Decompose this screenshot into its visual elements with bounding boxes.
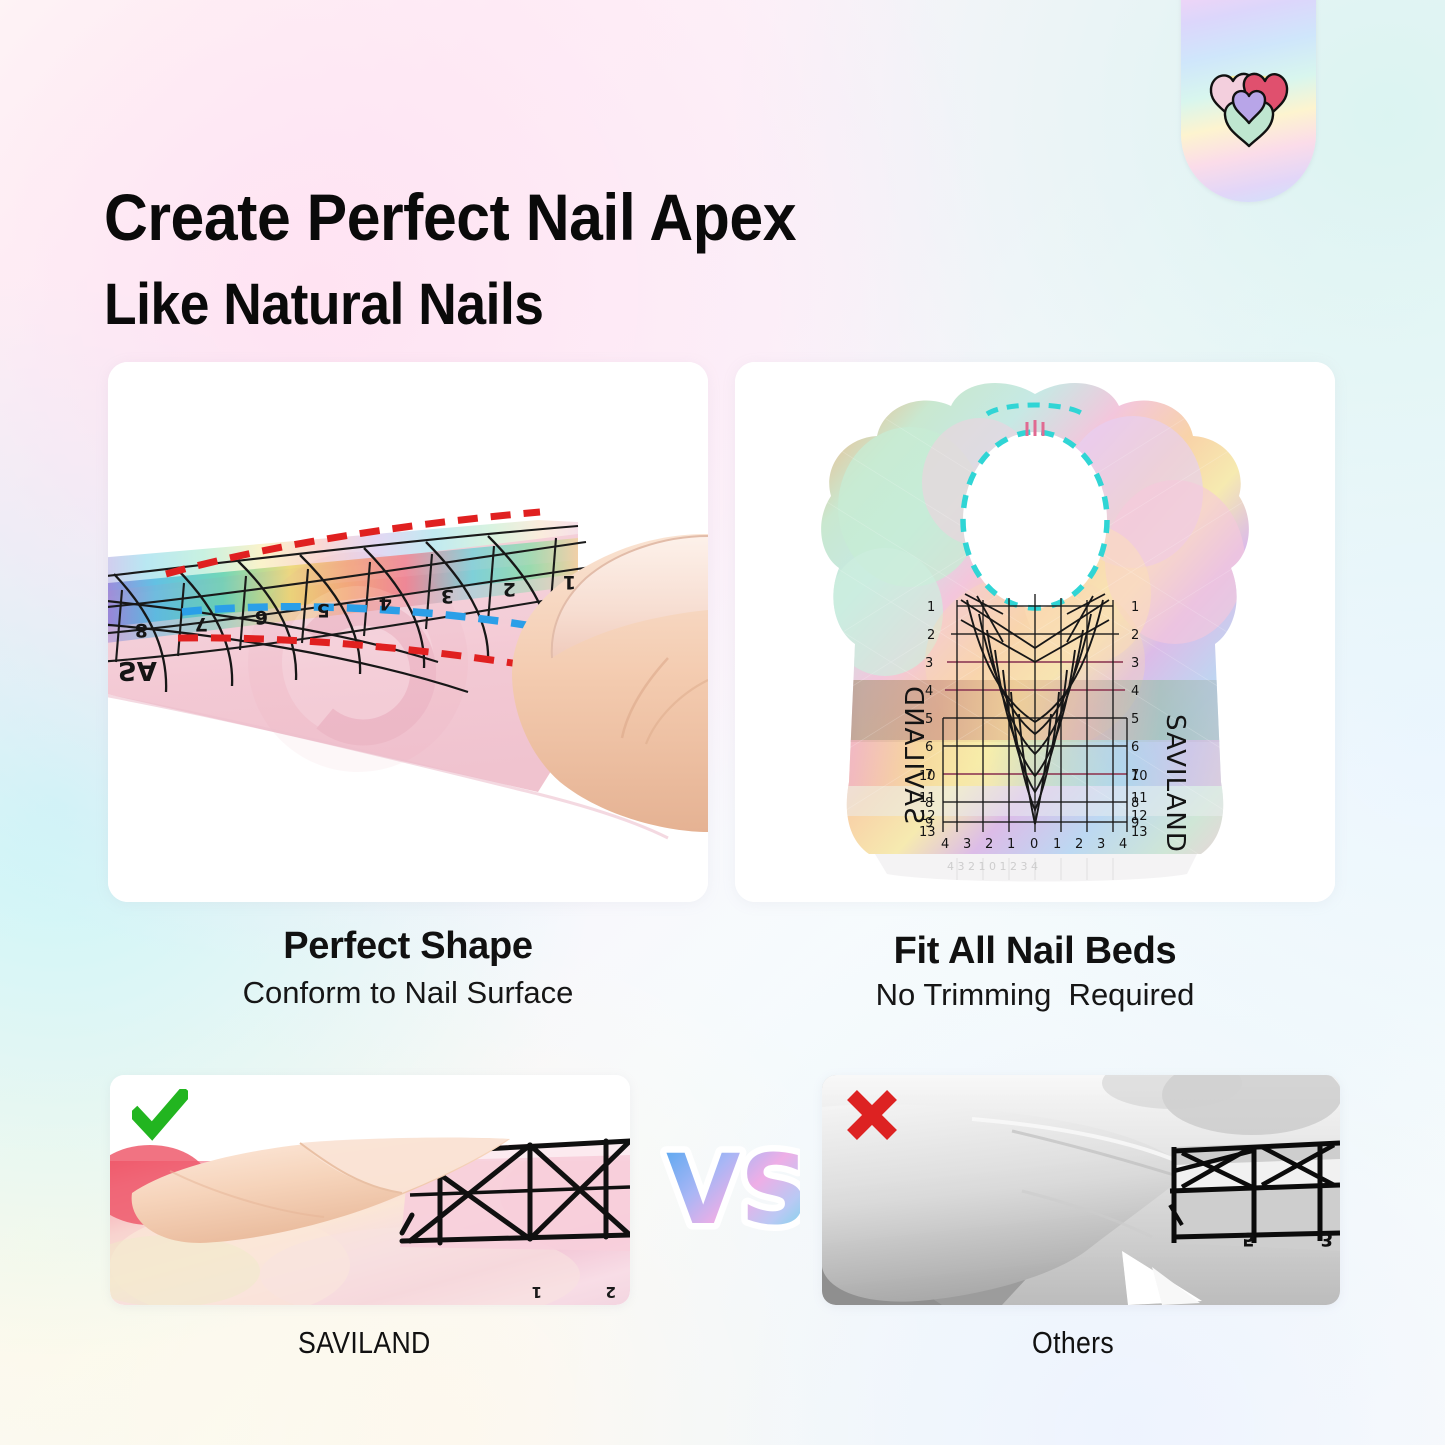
svg-text:3: 3 [1320,1228,1333,1250]
feature-title-fit-all-nail-beds: Fit All Nail Beds [735,930,1335,973]
feature-title-perfect-shape: Perfect Shape [108,925,708,968]
photo-saviland-fit: 1 2 [110,1075,630,1305]
svg-text:3: 3 [441,585,454,607]
svg-text:2: 2 [1075,837,1083,852]
svg-text:4: 4 [379,592,392,614]
svg-text:SAVILAND: SAVILAND [898,685,928,824]
svg-text:4: 4 [1119,837,1127,852]
svg-text:4: 4 [941,837,949,852]
comparison-label-others: Others [1032,1325,1114,1361]
comparison-label-saviland: SAVILAND [298,1325,431,1361]
feature-subtitle-fit-all-nail-beds: No Trimming Required [735,977,1335,1013]
svg-text:1: 1 [927,600,935,615]
svg-text:2: 2 [927,628,935,643]
svg-text:VS: VS [666,1135,800,1246]
cross-icon [844,1089,900,1141]
svg-text:1: 1 [1007,837,1015,852]
feature-card-fit-all-nail-beds: 12 34 56 78 9 12 34 56 78 9 [735,362,1335,902]
svg-text:4: 4 [1131,684,1139,699]
svg-text:5: 5 [1242,1228,1255,1250]
svg-text:1: 1 [532,1283,542,1301]
svg-text:3: 3 [963,837,971,852]
photo-side-view-nail-form: 8 7 6 5 4 3 2 1 SA [108,362,708,902]
svg-text:10: 10 [1131,769,1148,784]
svg-text:11: 11 [1131,791,1148,806]
svg-text:2: 2 [503,578,516,600]
svg-text:3: 3 [1131,656,1139,671]
svg-text:5: 5 [317,599,330,621]
svg-text:2: 2 [985,837,993,852]
svg-text:6: 6 [255,606,268,628]
svg-text:5: 5 [1131,712,1139,727]
flower-hearts-icon [1194,47,1304,157]
promo-page: Create Perfect Nail Apex Like Natural Na… [0,0,1445,1445]
svg-text:4 3 2 1 0 1 2 3 4: 4 3 2 1 0 1 2 3 4 [947,860,1038,873]
svg-text:13: 13 [1131,825,1148,840]
svg-text:SAVILAND: SAVILAND [1160,714,1190,853]
comparison-card-saviland: 1 2 [110,1075,630,1305]
svg-text:12: 12 [1131,809,1148,824]
svg-text:8: 8 [135,619,148,641]
svg-text:6: 6 [1131,740,1139,755]
svg-text:3: 3 [925,656,933,671]
check-icon [132,1089,188,1141]
svg-text:0: 0 [1030,837,1038,852]
headline-primary: Create Perfect Nail Apex [104,178,796,256]
svg-text:1: 1 [1053,837,1061,852]
brand-badge [1181,0,1316,202]
svg-text:3: 3 [1097,837,1105,852]
svg-text:2: 2 [606,1283,616,1301]
svg-text:SA: SA [118,655,157,685]
svg-text:1: 1 [1131,600,1139,615]
feature-card-perfect-shape: 8 7 6 5 4 3 2 1 SA [108,362,708,902]
svg-text:7: 7 [195,613,208,635]
comparison-card-others: 5 3 [822,1075,1340,1305]
headline-secondary: Like Natural Nails [104,270,544,340]
svg-text:1: 1 [563,571,576,593]
vs-badge: VS VS [660,1135,800,1250]
photo-flat-nail-form: 12 34 56 78 9 12 34 56 78 9 [735,362,1335,902]
svg-text:2: 2 [1131,628,1139,643]
svg-text:13: 13 [919,825,936,840]
feature-subtitle-perfect-shape: Conform to Nail Surface [108,975,708,1011]
